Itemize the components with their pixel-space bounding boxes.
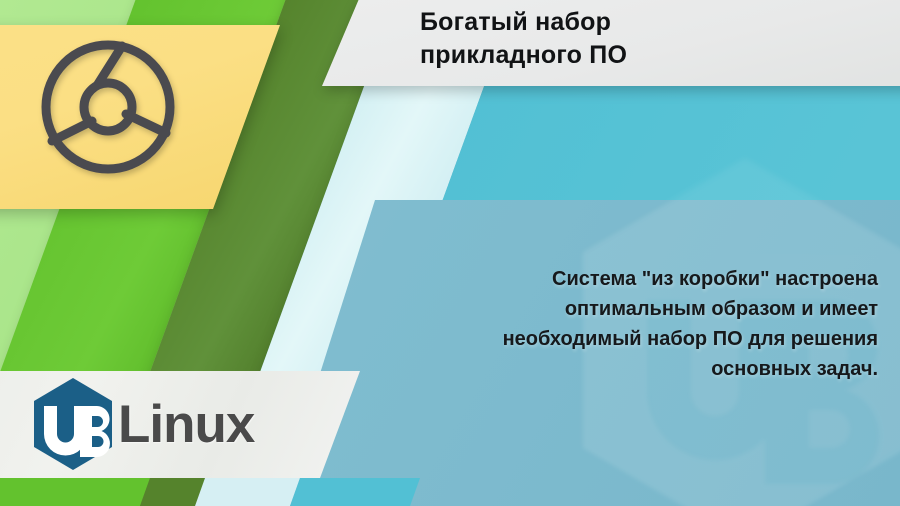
ub-hexagon-logo-icon xyxy=(30,376,116,472)
presentation-slide: Богатый набор прикладного ПО Система "из… xyxy=(0,0,900,506)
body-text: Система "из коробки" настроена оптимальн… xyxy=(418,264,878,384)
body-line-4: основных задач. xyxy=(418,354,878,384)
body-line-1: Система "из коробки" настроена xyxy=(418,264,878,294)
browser-chromium-icon xyxy=(38,37,178,177)
body-line-2: оптимальным образом и имеет xyxy=(418,294,878,324)
title-line-2: прикладного ПО xyxy=(420,39,880,72)
page-title: Богатый набор прикладного ПО xyxy=(420,6,880,72)
body-line-3: необходимый набор ПО для решения xyxy=(418,324,878,354)
brand-logo: Linux xyxy=(30,376,254,472)
logo-wordmark: Linux xyxy=(118,398,254,451)
title-line-1: Богатый набор xyxy=(420,6,880,39)
